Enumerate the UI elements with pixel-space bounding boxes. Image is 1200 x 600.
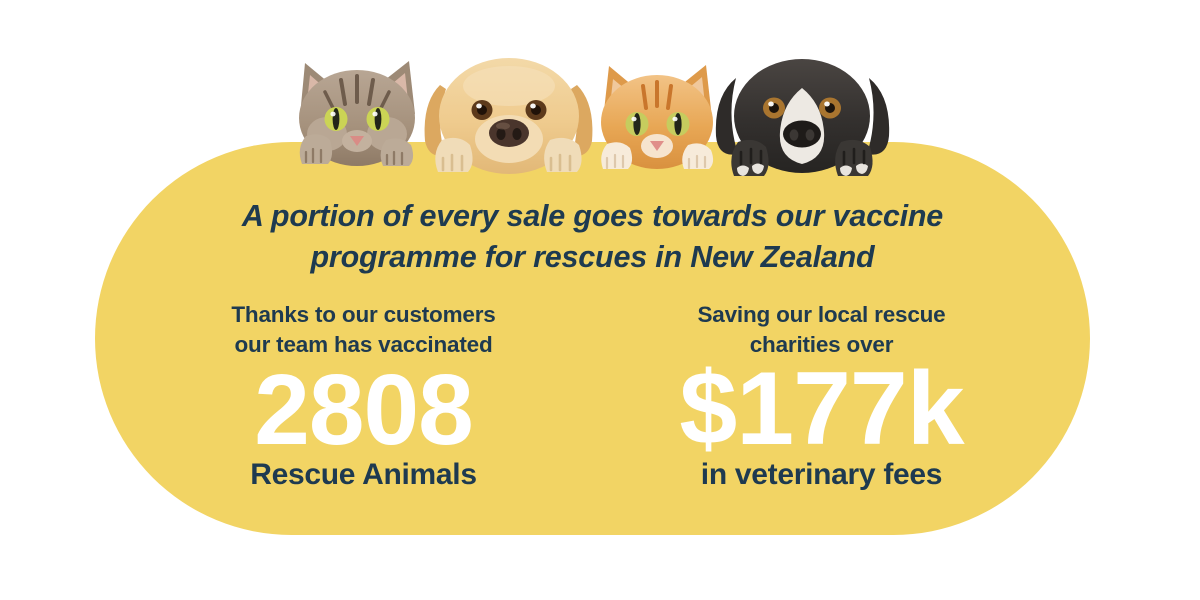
stat-caption-line-1: Thanks to our customers [231, 302, 495, 327]
stat-block-savings: Saving our local rescue charities over $… [584, 300, 1032, 492]
headline-line-1: A portion of every sale goes towards our… [242, 199, 943, 233]
banner-content: A portion of every sale goes towards our… [95, 142, 1090, 535]
stat-value-savings: $177k [612, 362, 1032, 458]
stat-subcaption-animals: Rescue Animals [154, 458, 574, 492]
stat-subcaption-savings: in veterinary fees [612, 458, 1032, 492]
stat-value-animals: 2808 [154, 364, 574, 456]
stat-block-vaccinated: Thanks to our customers our team has vac… [154, 300, 584, 492]
stats-row: Thanks to our customers our team has vac… [95, 300, 1090, 492]
poster-canvas: A portion of every sale goes towards our… [0, 0, 1200, 600]
headline: A portion of every sale goes towards our… [95, 196, 1090, 278]
headline-line-2: programme for rescues in New Zealand [95, 237, 1090, 278]
stat-caption-line-1: Saving our local rescue [698, 302, 946, 327]
stat-caption: Thanks to our customers our team has vac… [154, 300, 574, 360]
